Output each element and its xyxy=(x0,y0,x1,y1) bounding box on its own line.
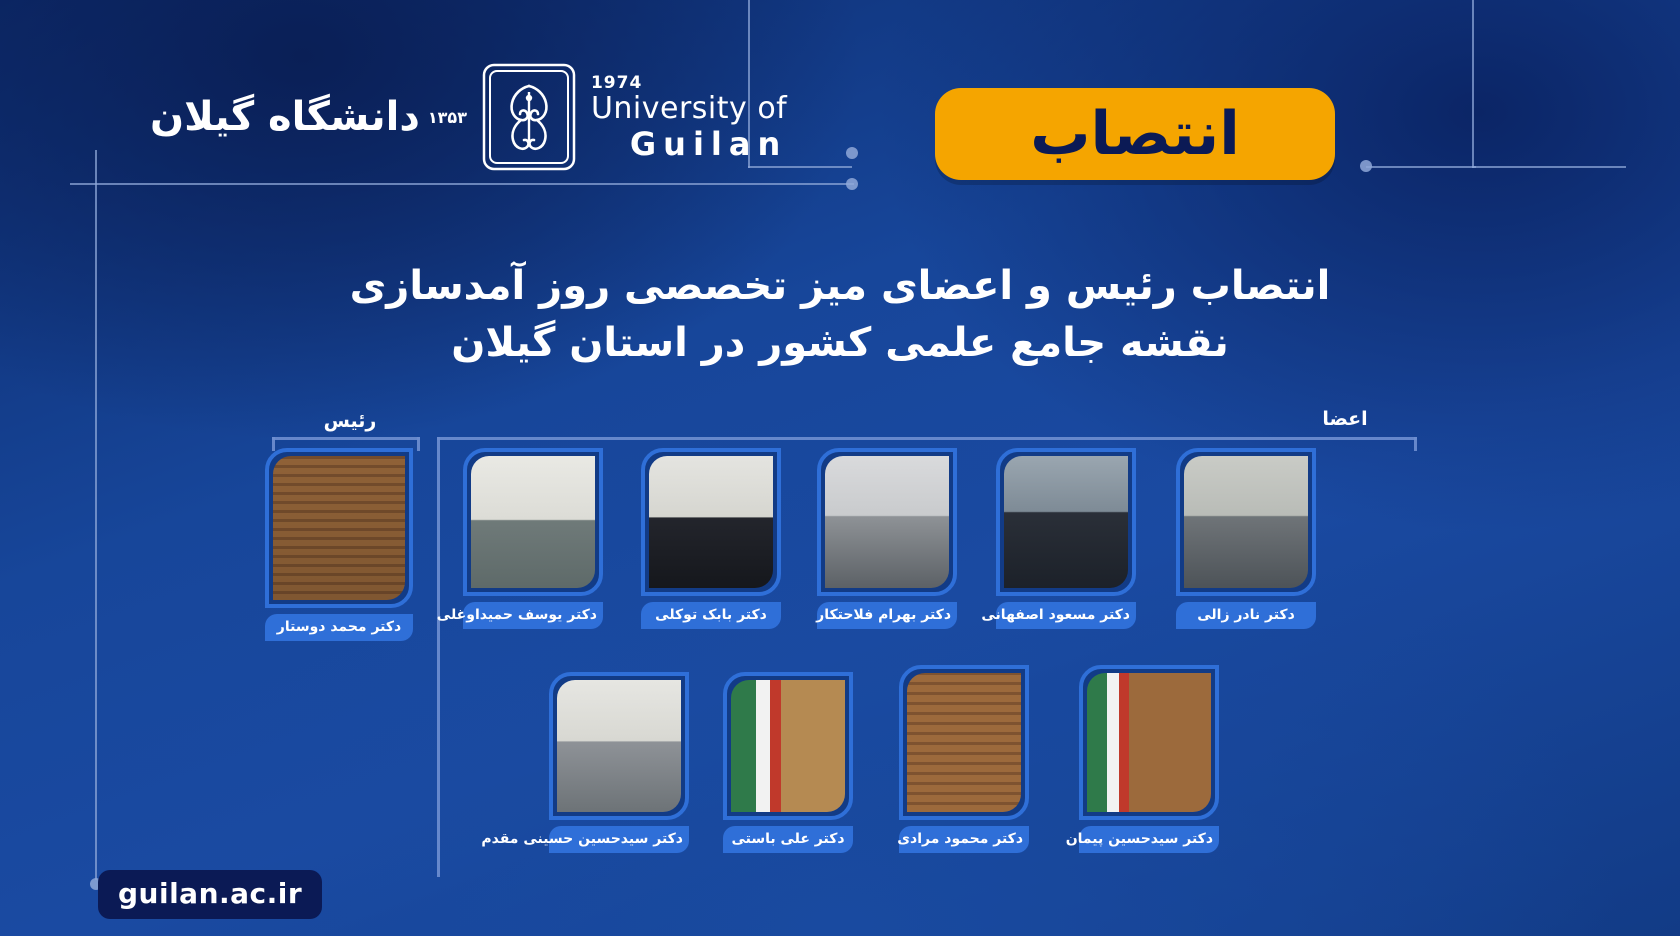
portrait-masoud-esfahani-icon xyxy=(1004,456,1128,588)
deco-hline-lower xyxy=(70,183,854,185)
person-name: دکتر محمد دوستار xyxy=(265,614,413,641)
chair-section-label: رئیس xyxy=(290,410,410,432)
person-name: دکتر سیدحسین حسینی مقدم xyxy=(549,826,689,853)
portrait-frame xyxy=(1079,665,1219,820)
logo-persian-text: ۱۳۵۳ دانشگاه گیلان xyxy=(150,94,467,140)
portrait-frame xyxy=(641,448,781,596)
page-title-line2: نقشه جامع علمی کشور در استان گیلان xyxy=(0,315,1680,372)
poster-canvas: 1974 University of Guilan ۱۳۵۳ دانشگاه گ… xyxy=(0,0,1680,936)
announcement-badge: انتصاب xyxy=(935,88,1335,180)
person-card[interactable]: دکتر مسعود اصفهانی xyxy=(996,448,1136,629)
members-section-tick-right xyxy=(1414,437,1417,451)
person-name: دکتر نادر زالی xyxy=(1176,602,1316,629)
portrait-yousef-hamidoghli-icon xyxy=(471,456,595,588)
chair-section-rule xyxy=(272,437,420,440)
person-card[interactable]: دکتر سیدحسین حسینی مقدم xyxy=(549,672,689,853)
portrait-nader-zali-icon xyxy=(1184,456,1308,588)
person-name: دکتر سیدحسین پیمان xyxy=(1079,826,1219,853)
person-card[interactable]: دکتر یوسف حمیداوغلی xyxy=(463,448,603,629)
person-name: دکتر مسعود اصفهانی xyxy=(996,602,1136,629)
portrait-seyed-hossein-hosseini-moghaddam-icon xyxy=(557,680,681,812)
members-section-rule xyxy=(437,437,1417,440)
website-badge[interactable]: guilan.ac.ir xyxy=(98,870,322,919)
deco-hline-right-inner xyxy=(1366,166,1476,168)
chair-section-tick-right xyxy=(417,437,420,451)
guilan-crest-icon xyxy=(481,62,577,172)
portrait-bahram-falahatkar-icon xyxy=(825,456,949,588)
person-name: دکتر بهرام فلاحتکار xyxy=(817,602,957,629)
deco-vline-right-outer xyxy=(1472,0,1474,168)
members-section-tick-left xyxy=(437,437,440,877)
logo-university-name-fa: دانشگاه گیلان xyxy=(150,94,420,140)
members-section-label: اعضا xyxy=(1300,408,1390,430)
announcement-badge-label: انتصاب xyxy=(1030,104,1240,164)
person-name: دکتر بابک توکلی xyxy=(641,602,781,629)
person-name: دکتر محمود مرادی xyxy=(899,826,1029,853)
portrait-mohammad-doostar-icon xyxy=(273,456,405,600)
logo-year-fa: ۱۳۵۳ xyxy=(428,108,467,127)
deco-dot-center-lower xyxy=(846,178,858,190)
portrait-frame xyxy=(1176,448,1316,596)
person-name: دکتر علی باستی xyxy=(723,826,853,853)
portrait-babak-tavakoli-icon xyxy=(649,456,773,588)
portrait-frame xyxy=(723,672,853,820)
portrait-ali-basti-icon xyxy=(731,680,845,812)
page-title-line1: انتصاب رئیس و اعضای میز تخصصی روز آمدساز… xyxy=(0,258,1680,315)
portrait-mahmoud-moradi-icon xyxy=(907,673,1021,812)
logo-university-word: University of xyxy=(591,94,787,124)
portrait-seyed-hossein-peyman-icon xyxy=(1087,673,1211,812)
logo-year-en: 1974 xyxy=(591,75,642,92)
university-logo: 1974 University of Guilan ۱۳۵۳ دانشگاه گ… xyxy=(150,62,787,172)
portrait-frame xyxy=(549,672,689,820)
portrait-frame xyxy=(899,665,1029,820)
person-card[interactable]: دکتر محمد دوستار xyxy=(265,448,413,641)
logo-guilan-word: Guilan xyxy=(630,128,787,160)
deco-hline-right-outer xyxy=(1472,166,1626,168)
logo-english-text: 1974 University of Guilan xyxy=(591,75,787,160)
person-card[interactable]: دکتر نادر زالی xyxy=(1176,448,1316,629)
person-card[interactable]: دکتر بهرام فلاحتکار xyxy=(817,448,957,629)
deco-dot-center-upper xyxy=(846,147,858,159)
page-title: انتصاب رئیس و اعضای میز تخصصی روز آمدساز… xyxy=(0,258,1680,372)
person-card[interactable]: دکتر علی باستی xyxy=(723,672,853,853)
person-card[interactable]: دکتر بابک توکلی xyxy=(641,448,781,629)
portrait-frame xyxy=(265,448,413,608)
portrait-frame xyxy=(817,448,957,596)
portrait-frame xyxy=(463,448,603,596)
person-card[interactable]: دکتر سیدحسین پیمان xyxy=(1079,665,1219,853)
portrait-frame xyxy=(996,448,1136,596)
person-name: دکتر یوسف حمیداوغلی xyxy=(463,602,603,629)
person-card[interactable]: دکتر محمود مرادی xyxy=(899,665,1029,853)
